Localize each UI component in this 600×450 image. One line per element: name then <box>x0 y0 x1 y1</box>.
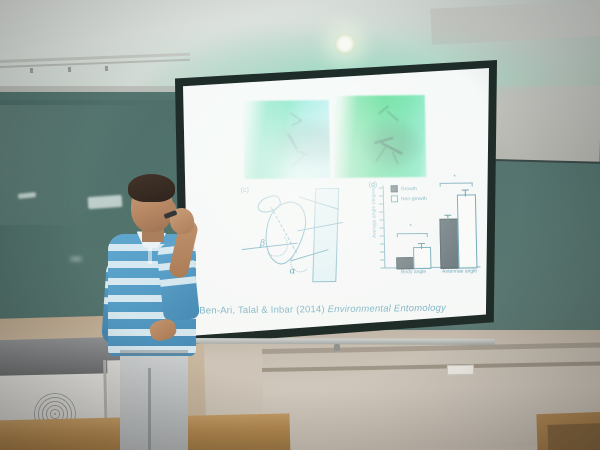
photo-panel-b <box>333 95 427 178</box>
lecture-hall-photo: (c) β α (d) Growth <box>0 0 600 450</box>
bar-nongrowth-body <box>413 247 431 269</box>
significance-star: * <box>453 175 455 181</box>
significance-tick <box>472 182 473 186</box>
legend-swatch-dark <box>391 185 398 192</box>
error-cap <box>462 189 469 190</box>
bar-growth-body <box>396 257 414 269</box>
wall-reflection <box>70 257 82 261</box>
slide-citation: Ben-Ari, Talal & Inbar (2014) Environmen… <box>199 302 484 316</box>
significance-tick <box>440 183 441 187</box>
y-axis <box>383 185 386 267</box>
significance-tick <box>427 233 428 237</box>
x-tick-body-angle: Body angle <box>388 269 438 276</box>
diagram-panel-c: (c) β α <box>241 186 363 287</box>
alpha-symbol: α <box>289 266 295 276</box>
rail-clip <box>105 66 108 71</box>
significance-bracket <box>440 182 473 183</box>
legend-item-growth: Growth <box>391 185 427 192</box>
rail-clip <box>68 67 71 72</box>
significance-star: * <box>410 224 412 230</box>
error-cap <box>444 215 451 216</box>
presenter-hair <box>128 174 175 202</box>
legend-label-growth: Growth <box>401 186 417 192</box>
beta-symbol: β <box>260 239 265 249</box>
waist-line <box>120 350 188 355</box>
presentation-slide: (c) β α (d) Growth <box>183 68 489 336</box>
error-cap <box>418 243 425 244</box>
leg-seam <box>148 368 151 450</box>
wooden-desk-side <box>547 423 600 450</box>
rail-clip <box>30 68 33 73</box>
x-tick-antennae-angle: Antennae angle <box>432 268 486 275</box>
chart-legend: Growth Non-growth <box>391 185 427 205</box>
presenter-legs <box>120 350 188 450</box>
photo-panel-a <box>243 100 331 179</box>
legend-swatch-light <box>391 195 398 202</box>
bar-chart-panel-d: (d) Growth Non-growth <box>369 182 483 289</box>
significance-tick <box>397 233 398 237</box>
presenter <box>98 168 218 450</box>
bar-growth-antennae <box>439 219 459 269</box>
citation-journal: Environmental Entomology <box>328 303 447 315</box>
legend-item-non-growth: Non-growth <box>391 195 427 202</box>
screen-pull-knob <box>334 344 340 351</box>
error-bar <box>465 190 466 197</box>
legend-label-non-growth: Non-growth <box>401 195 427 201</box>
significance-bracket <box>397 233 428 234</box>
ceiling-downlight <box>334 33 356 55</box>
projection-screen: (c) β α (d) Growth <box>183 68 489 336</box>
bar-nongrowth-antennae <box>457 194 478 268</box>
beta-angle-arc <box>264 233 289 257</box>
counter-label-tag <box>447 365 474 375</box>
panel-c-label: (c) <box>241 187 249 194</box>
citation-authors: Ben-Ari, Talal & Inbar (2014) <box>199 304 325 316</box>
